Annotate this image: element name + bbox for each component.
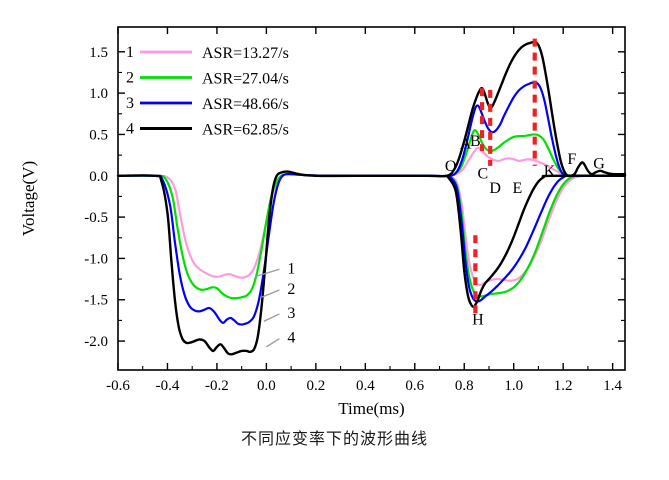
annotation-D: D xyxy=(489,180,501,197)
annotation-E: E xyxy=(513,180,523,197)
callout-label-1: 1 xyxy=(287,260,295,277)
x-tick-label: 0.6 xyxy=(405,378,424,394)
figure-caption: 不同应变率下的波形曲线 xyxy=(0,425,669,449)
callout-label-4: 4 xyxy=(287,330,295,347)
x-tick-label: -0.2 xyxy=(205,378,229,394)
annotation-F: F xyxy=(567,151,576,168)
x-axis-title: Time(ms) xyxy=(338,399,404,418)
annotation-K: K xyxy=(544,163,556,180)
annotation-O: O xyxy=(445,158,457,175)
annotation-C: C xyxy=(477,165,488,182)
legend-label-3: ASR=48.66/s xyxy=(202,96,289,113)
y-tick-label: -2.0 xyxy=(84,334,108,350)
y-tick-label: 0.5 xyxy=(89,127,108,143)
y-tick-label: -0.5 xyxy=(84,210,108,226)
y-axis-title: Voltage(V) xyxy=(19,161,38,236)
x-tick-label: -0.6 xyxy=(106,378,130,394)
legend-label-1: ASR=13.27/s xyxy=(202,45,289,62)
chart-svg: -0.6-0.4-0.20.00.20.40.60.81.01.21.41.51… xyxy=(0,0,669,420)
legend-label-4: ASR=62.85/s xyxy=(202,122,289,139)
x-tick-label: 1.4 xyxy=(603,378,622,394)
y-tick-label: 0.0 xyxy=(89,169,108,185)
x-tick-label: 0.8 xyxy=(455,378,474,394)
x-tick-label: 0.2 xyxy=(306,378,325,394)
legend-index-4: 4 xyxy=(126,121,134,138)
chart-figure: -0.6-0.4-0.20.00.20.40.60.81.01.21.41.51… xyxy=(0,0,669,420)
x-tick-label: 1.0 xyxy=(504,378,523,394)
y-tick-label: 1.0 xyxy=(89,86,108,102)
x-tick-label: 1.2 xyxy=(554,378,573,394)
legend-index-3: 3 xyxy=(126,95,134,112)
annotation-H: H xyxy=(472,312,484,329)
callout-label-2: 2 xyxy=(287,281,295,298)
legend-label-2: ASR=27.04/s xyxy=(202,71,289,88)
x-tick-label: 0.4 xyxy=(356,378,375,394)
x-tick-label: -0.4 xyxy=(156,378,180,394)
callout-label-3: 3 xyxy=(287,305,295,322)
plot-frame xyxy=(118,27,625,370)
annotation-G: G xyxy=(593,155,605,172)
legend-index-2: 2 xyxy=(126,70,134,87)
annotation-B: B xyxy=(470,133,481,150)
x-tick-label: 0.0 xyxy=(257,378,276,394)
legend-index-1: 1 xyxy=(126,44,134,61)
y-tick-label: 1.5 xyxy=(89,45,108,61)
y-tick-label: -1.5 xyxy=(84,293,108,309)
figure-root: -0.6-0.4-0.20.00.20.40.60.81.01.21.41.51… xyxy=(0,0,669,480)
y-tick-label: -1.0 xyxy=(84,251,108,267)
